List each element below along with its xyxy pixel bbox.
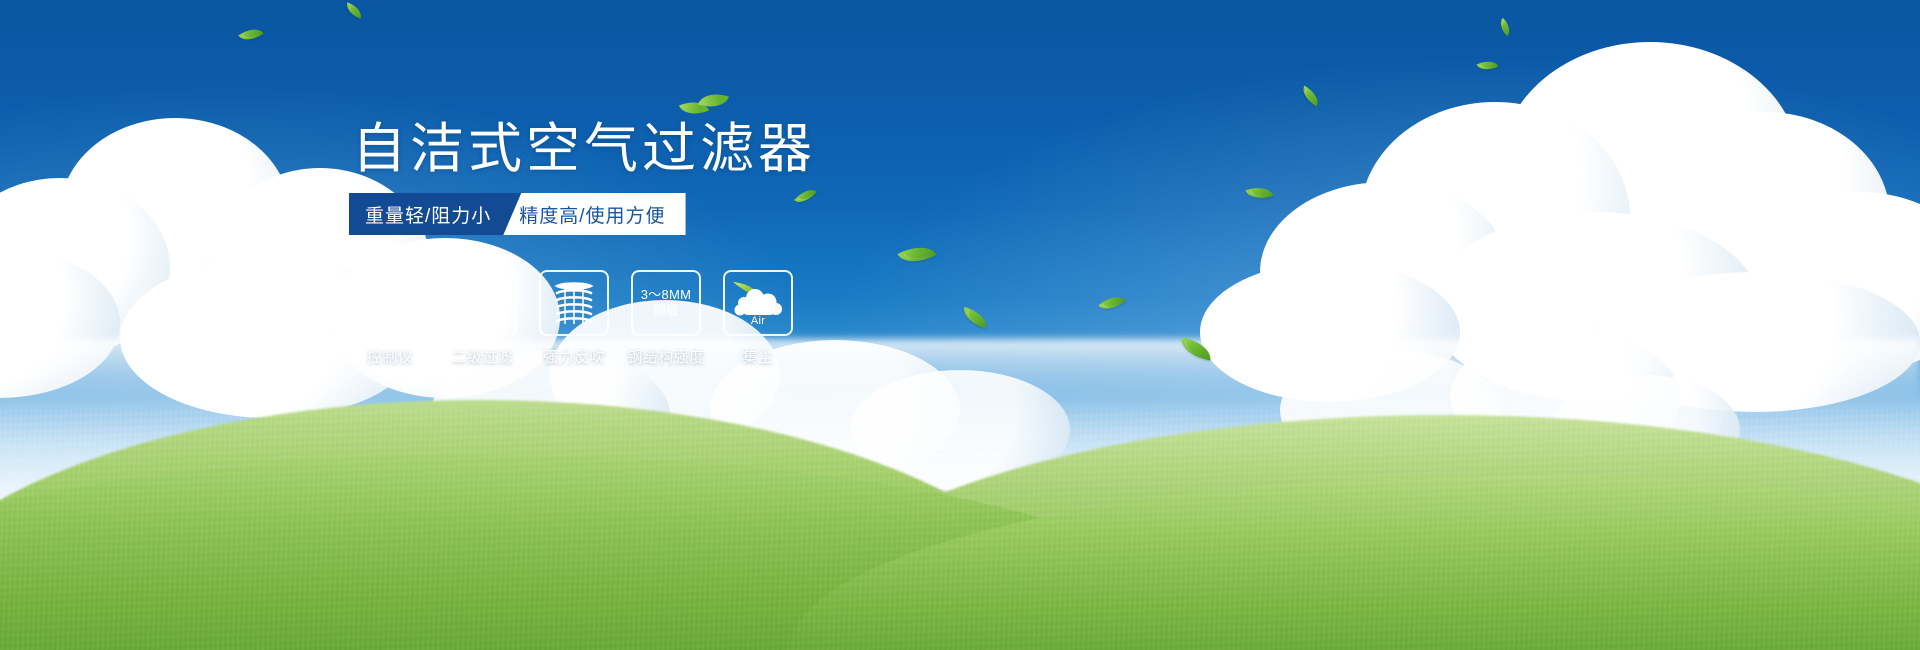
feature-pressure-box[interactable]: 0.6～0.8 MPA: [447, 270, 517, 336]
feature-pressure-line1: 0.6～0.8: [456, 287, 507, 303]
feature-pressure[interactable]: 0.6～0.8 MPA 二级过滤: [447, 270, 517, 367]
tag-precision-usability[interactable]: 精度高/使用方便: [503, 193, 685, 235]
feature-pressure-line2: MPA: [468, 303, 496, 319]
title-leaf-icon: [681, 92, 727, 118]
product-banner: 自洁式空气过滤器 重量轻/阻力小 精度高/使用方便: [0, 0, 1920, 650]
cloud-air-icon: Air: [730, 280, 786, 326]
air-label: Air: [751, 315, 765, 326]
feature-dust-box[interactable]: Air: [723, 270, 793, 336]
feature-steel[interactable]: 3～8MM 钢板 钢结构强度: [631, 270, 701, 367]
feature-pressure-caption: 二级过滤: [451, 346, 513, 367]
feature-dust[interactable]: Air 集尘: [723, 270, 793, 367]
feature-dust-caption: 集尘: [742, 346, 773, 367]
feature-steel-box[interactable]: 3～8MM 钢板: [631, 270, 701, 336]
feature-controller-box[interactable]: [355, 270, 425, 336]
banner-content: 自洁式空气过滤器 重量轻/阻力小 精度高/使用方便: [0, 0, 1920, 650]
tag-group: 重量轻/阻力小 精度高/使用方便: [349, 193, 686, 235]
feature-list: 控制仪 0.6～0.8 MPA 二级过滤: [355, 270, 793, 367]
page-title: 自洁式空气过滤器: [352, 118, 816, 180]
coil-filter-icon: [551, 279, 597, 327]
tag-weight-resistance[interactable]: 重量轻/阻力小: [349, 193, 521, 235]
feature-blowback[interactable]: 强力反吹: [539, 270, 609, 367]
feature-controller-caption: 控制仪: [367, 346, 414, 367]
feature-steel-caption: 钢结构强度: [627, 346, 705, 367]
feature-blowback-caption: 强力反吹: [543, 346, 605, 367]
feature-steel-line1: 3～8MM: [641, 287, 692, 303]
gauge-icon: [363, 278, 417, 328]
feature-steel-line2: 钢板: [653, 303, 680, 319]
feature-blowback-box[interactable]: [539, 270, 609, 336]
feature-controller[interactable]: 控制仪: [355, 270, 425, 367]
